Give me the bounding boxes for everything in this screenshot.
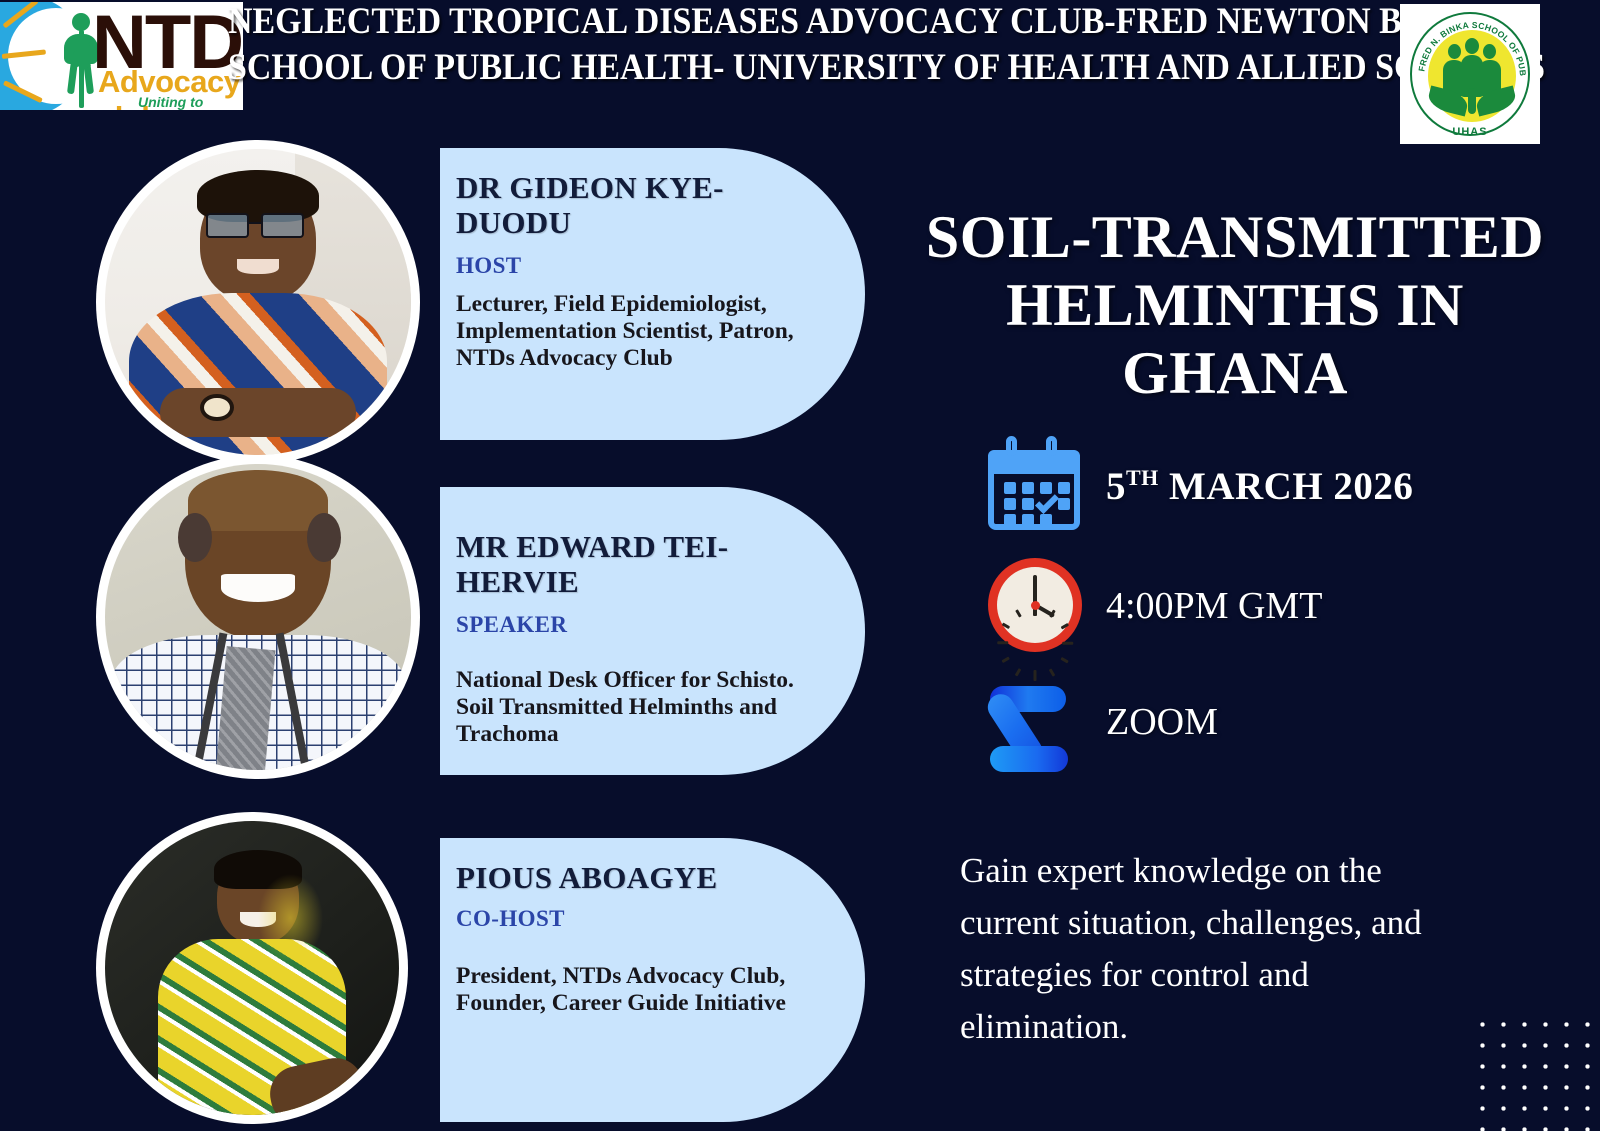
uhas-figure-head [1483,44,1496,59]
organisation-title-line1: NEGLECTED TROPICAL DISEASES ADVOCACY CLU… [228,0,1321,44]
event-time-row: 4:00PM GMT [980,552,1322,660]
decorative-dot-grid [1468,1008,1600,1131]
avatar [96,455,420,779]
ntds-tagline: Uniting to combat NTDs [138,94,243,110]
organisation-title: NEGLECTED TROPICAL DISEASES ADVOCACY CLU… [228,0,1321,90]
speaker-name: MR EDWARD TEI-HERVIE [456,529,835,599]
speaker-card: DR GIDEON KYE-DUODU HOST Lecturer, Field… [440,148,865,440]
portrait-photo-speaker-3 [105,821,399,1115]
uhas-acronym: UHAS [1400,126,1540,138]
speaker-name: PIOUS ABOAGYE [456,860,835,895]
portrait-photo-speaker-1 [105,149,411,455]
avatar [96,812,408,1124]
page-title: SOIL-TRANSMITTED HELMINTHS IN GHANA [890,203,1580,407]
uhas-stem [1468,88,1476,114]
poster-header: NTDs Advocacy club Uniting to combat NTD… [0,0,1600,136]
ntds-advocacy-club-logo: NTDs Advocacy club Uniting to combat NTD… [0,2,243,110]
speaker-name: DR GIDEON KYE-DUODU [456,170,835,240]
calendar-icon [980,432,1088,540]
event-date-row: 5TH MARCH 2026 [980,432,1413,540]
speaker-description: President, NTDs Advocacy Club, Founder, … [456,963,831,1017]
speaker-role-badge: SPEAKER [456,612,567,638]
speaker-card: MR EDWARD TEI-HERVIE SPEAKER National De… [440,487,865,775]
zoom-logo-icon [980,668,1088,776]
event-date-text: 5TH MARCH 2026 [1106,464,1413,509]
speaker-description: Lecturer, Field Epidemiologist, Implemen… [456,291,831,372]
event-platform-row: ZOOM [980,668,1218,776]
event-time-text: 4:00PM GMT [1106,584,1322,628]
speaker-role-badge: CO-HOST [456,906,565,932]
portrait-photo-speaker-2 [105,464,411,770]
clock-icon [980,552,1088,660]
uhas-school-logo: FRED N. BINKA SCHOOL OF PUBLIC HEALTH UH… [1400,4,1540,144]
organisation-title-line2: SCHOOL OF PUBLIC HEALTH- UNIVERSITY OF H… [228,44,1321,90]
avatar [96,140,420,464]
speaker-description: National Desk Officer for Schisto. Soil … [456,667,831,748]
uhas-figure-head [1465,38,1479,54]
speaker-card: PIOUS ABOAGYE CO-HOST President, NTDs Ad… [440,838,865,1122]
event-description: Gain expert knowledge on the current sit… [960,845,1480,1053]
speaker-role-badge: HOST [456,253,522,279]
uhas-outer-ring: FRED N. BINKA SCHOOL OF PUBLIC HEALTH [1410,12,1530,136]
uhas-figure-head [1448,44,1461,59]
event-platform-text: ZOOM [1106,700,1218,744]
